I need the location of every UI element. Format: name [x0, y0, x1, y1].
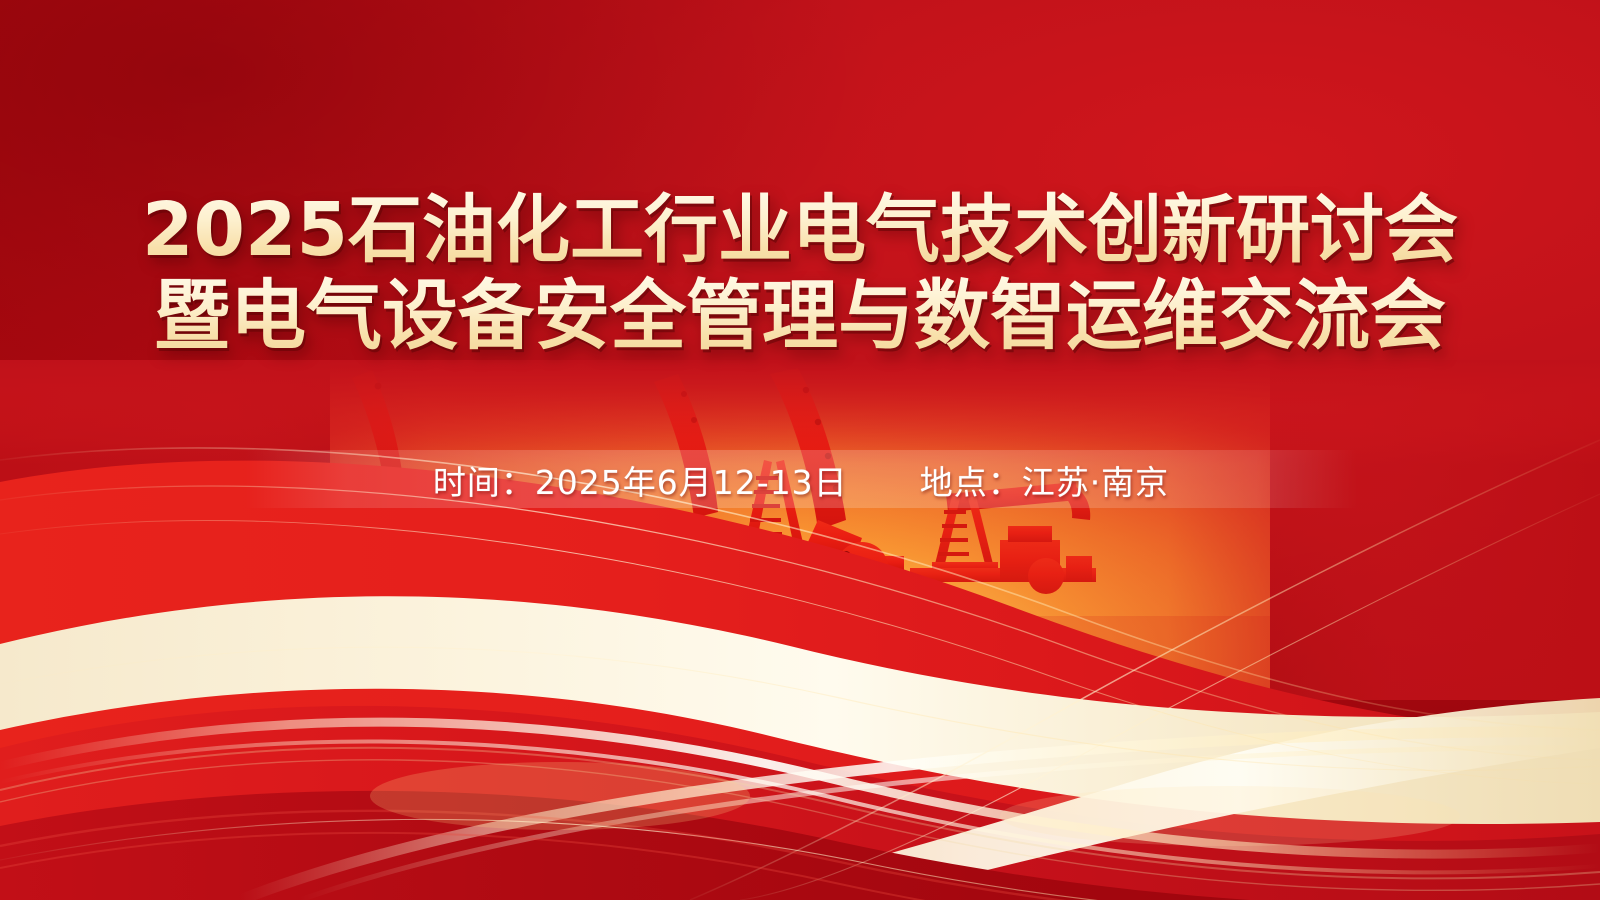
conference-banner: 2025石油化工行业电气技术创新研讨会 暨电气设备安全管理与数智运维交流会 时间… [0, 0, 1600, 900]
event-info-band: 时间：2025年6月12-13日 地点：江苏·南京 [245, 450, 1357, 508]
event-location: 地点：江苏·南京 [920, 456, 1170, 504]
event-date: 时间：2025年6月12-13日 [433, 456, 848, 504]
event-info-inner: 时间：2025年6月12-13日 地点：江苏·南京 [433, 456, 1169, 504]
